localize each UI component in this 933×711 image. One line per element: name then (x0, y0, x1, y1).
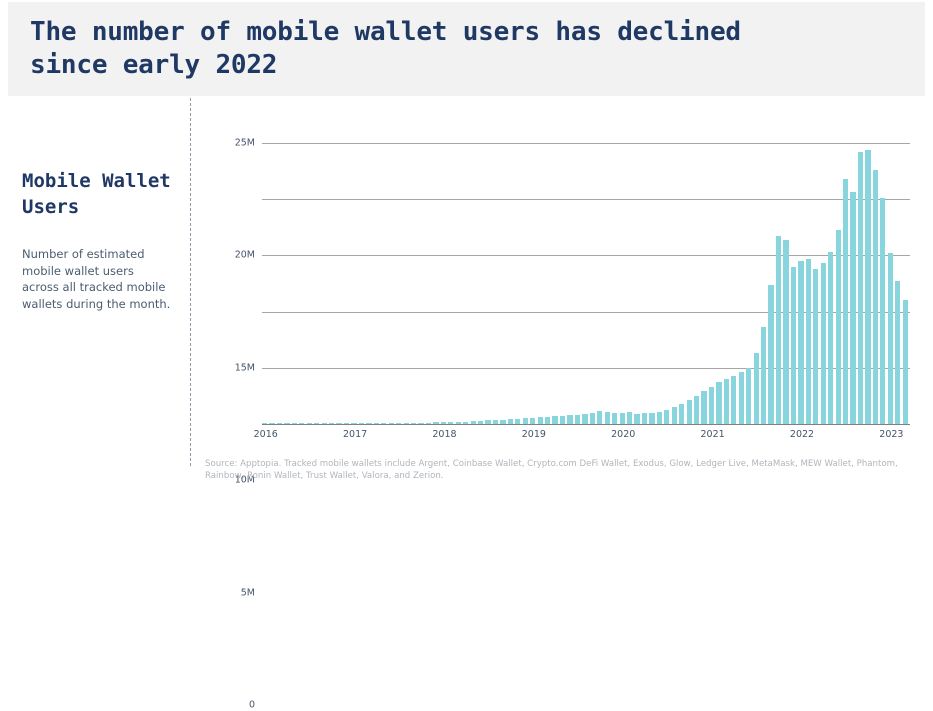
bar (783, 240, 788, 424)
bar (634, 414, 639, 424)
bar (649, 413, 654, 424)
bar (664, 410, 669, 424)
x-axis-tick-label: 2019 (522, 429, 546, 440)
bar (821, 263, 826, 424)
source-note: Source: Apptopia. Tracked mobile wallets… (205, 458, 927, 482)
bar (828, 252, 833, 424)
bar (567, 415, 572, 424)
bar (865, 150, 870, 424)
bar (716, 382, 721, 424)
bar (806, 259, 811, 424)
bar (612, 413, 617, 424)
x-axis-tick-label: 2022 (790, 429, 814, 440)
plot-area: 05M10M15M20M25M 201620172018201920202021… (262, 143, 910, 424)
bar (724, 379, 729, 424)
bar (672, 407, 677, 424)
bar (895, 281, 900, 424)
bar (836, 230, 841, 424)
bar (694, 396, 699, 424)
bar (754, 353, 759, 424)
bar (709, 387, 714, 424)
bar (582, 414, 587, 424)
x-axis-tick-label: 2016 (254, 429, 278, 440)
page-title: The number of mobile wallet users has de… (30, 16, 890, 82)
x-axis: 20162017201820192020202120222023 (262, 424, 910, 444)
x-axis-tick-label: 2021 (701, 429, 725, 440)
x-axis-tick-label: 2018 (432, 429, 456, 440)
bar (813, 269, 818, 424)
bar (605, 412, 610, 424)
bar (903, 300, 908, 424)
x-axis-tick-label: 2017 (343, 429, 367, 440)
metric-description: Number of estimated mobile wallet users … (22, 246, 174, 312)
header-band: The number of mobile wallet users has de… (8, 2, 925, 96)
bar (798, 261, 803, 424)
bar (657, 412, 662, 424)
bar (560, 416, 565, 424)
bar (642, 413, 647, 424)
bar (791, 267, 796, 424)
vertical-divider (190, 98, 191, 466)
y-axis-tick-label: 25M (235, 138, 255, 149)
x-axis-tick-label: 2020 (611, 429, 635, 440)
bar (552, 416, 557, 424)
bar (739, 372, 744, 424)
bar (888, 253, 893, 424)
y-axis-tick-label: 0 (249, 700, 255, 711)
bar (761, 327, 766, 424)
bar (679, 404, 684, 424)
bar (873, 170, 878, 424)
y-axis-tick-label: 5M (241, 587, 255, 598)
metric-title: Mobile Wallet Users (22, 168, 174, 220)
bar (858, 152, 863, 424)
y-axis-tick-label: 20M (235, 250, 255, 261)
bar (545, 417, 550, 424)
chart: 05M10M15M20M25M 201620172018201920202021… (205, 120, 925, 450)
bar (746, 368, 751, 424)
bar (627, 412, 632, 424)
sidebar: Mobile Wallet Users Number of estimated … (22, 168, 174, 312)
bar (768, 285, 773, 424)
bar (843, 179, 848, 424)
bar (575, 415, 580, 424)
bar (538, 417, 543, 424)
y-axis-tick-label: 15M (235, 362, 255, 373)
bar (687, 400, 692, 424)
x-axis-tick-label: 2023 (879, 429, 903, 440)
bar-series (262, 143, 910, 424)
bar (731, 376, 736, 424)
bar (850, 192, 855, 424)
bar (880, 198, 885, 424)
bar (590, 413, 595, 424)
bar (597, 411, 602, 424)
bar (620, 413, 625, 424)
bar (776, 236, 781, 424)
bar (701, 391, 706, 424)
